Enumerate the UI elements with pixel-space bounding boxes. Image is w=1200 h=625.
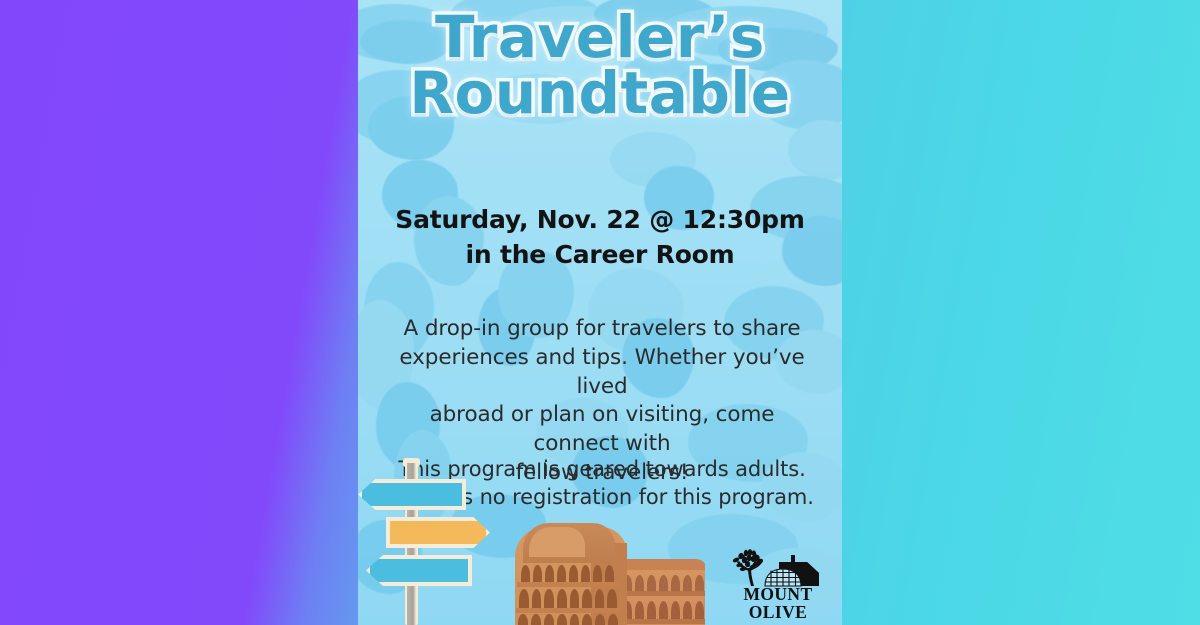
signpost-arrow-bottom-icon [366,555,472,586]
colosseum-front-cornice-1 [517,582,619,587]
description-line-3: abroad or plan on visiting, come connect… [384,401,820,459]
colosseum-icon [507,519,705,625]
colosseum-front-arcade-1 [521,565,615,582]
signpost-arrow-top-icon [358,479,466,510]
colosseum-front-cornice-2 [516,608,620,613]
description-line-1: A drop-in group for travelers to share [384,315,820,344]
title-line-1: Traveler’s [358,10,842,66]
event-datetime-location: Saturday, Nov. 22 @ 12:30pm in the Caree… [358,203,842,272]
library-name: MOUNT OLIVE [715,586,841,621]
event-datetime: Saturday, Nov. 22 @ 12:30pm [358,203,842,238]
library-logo-text: MOUNT OLIVE PUBLIC LIBRARY [715,586,841,625]
signpost-icon [358,455,488,625]
library-logo-mark [715,549,841,587]
library-logo: MOUNT OLIVE PUBLIC LIBRARY [715,549,841,613]
signpost-arrow-middle-icon [386,517,490,548]
event-location: in the Career Room [358,238,842,273]
title-line-2: Roundtable [358,66,842,122]
tree-and-building-icon [715,549,841,587]
colosseum-upper-wall-highlight [529,527,585,557]
colosseum-front-arcade-2 [519,589,617,608]
colosseum-front-arcade-3 [518,614,618,625]
page-title: Traveler’s Roundtable [358,10,842,121]
poster-screenshot: Traveler’s Roundtable Saturday, Nov. 22 … [0,0,1200,625]
description-line-2: experiences and tips. Whether you’ve liv… [384,344,820,402]
